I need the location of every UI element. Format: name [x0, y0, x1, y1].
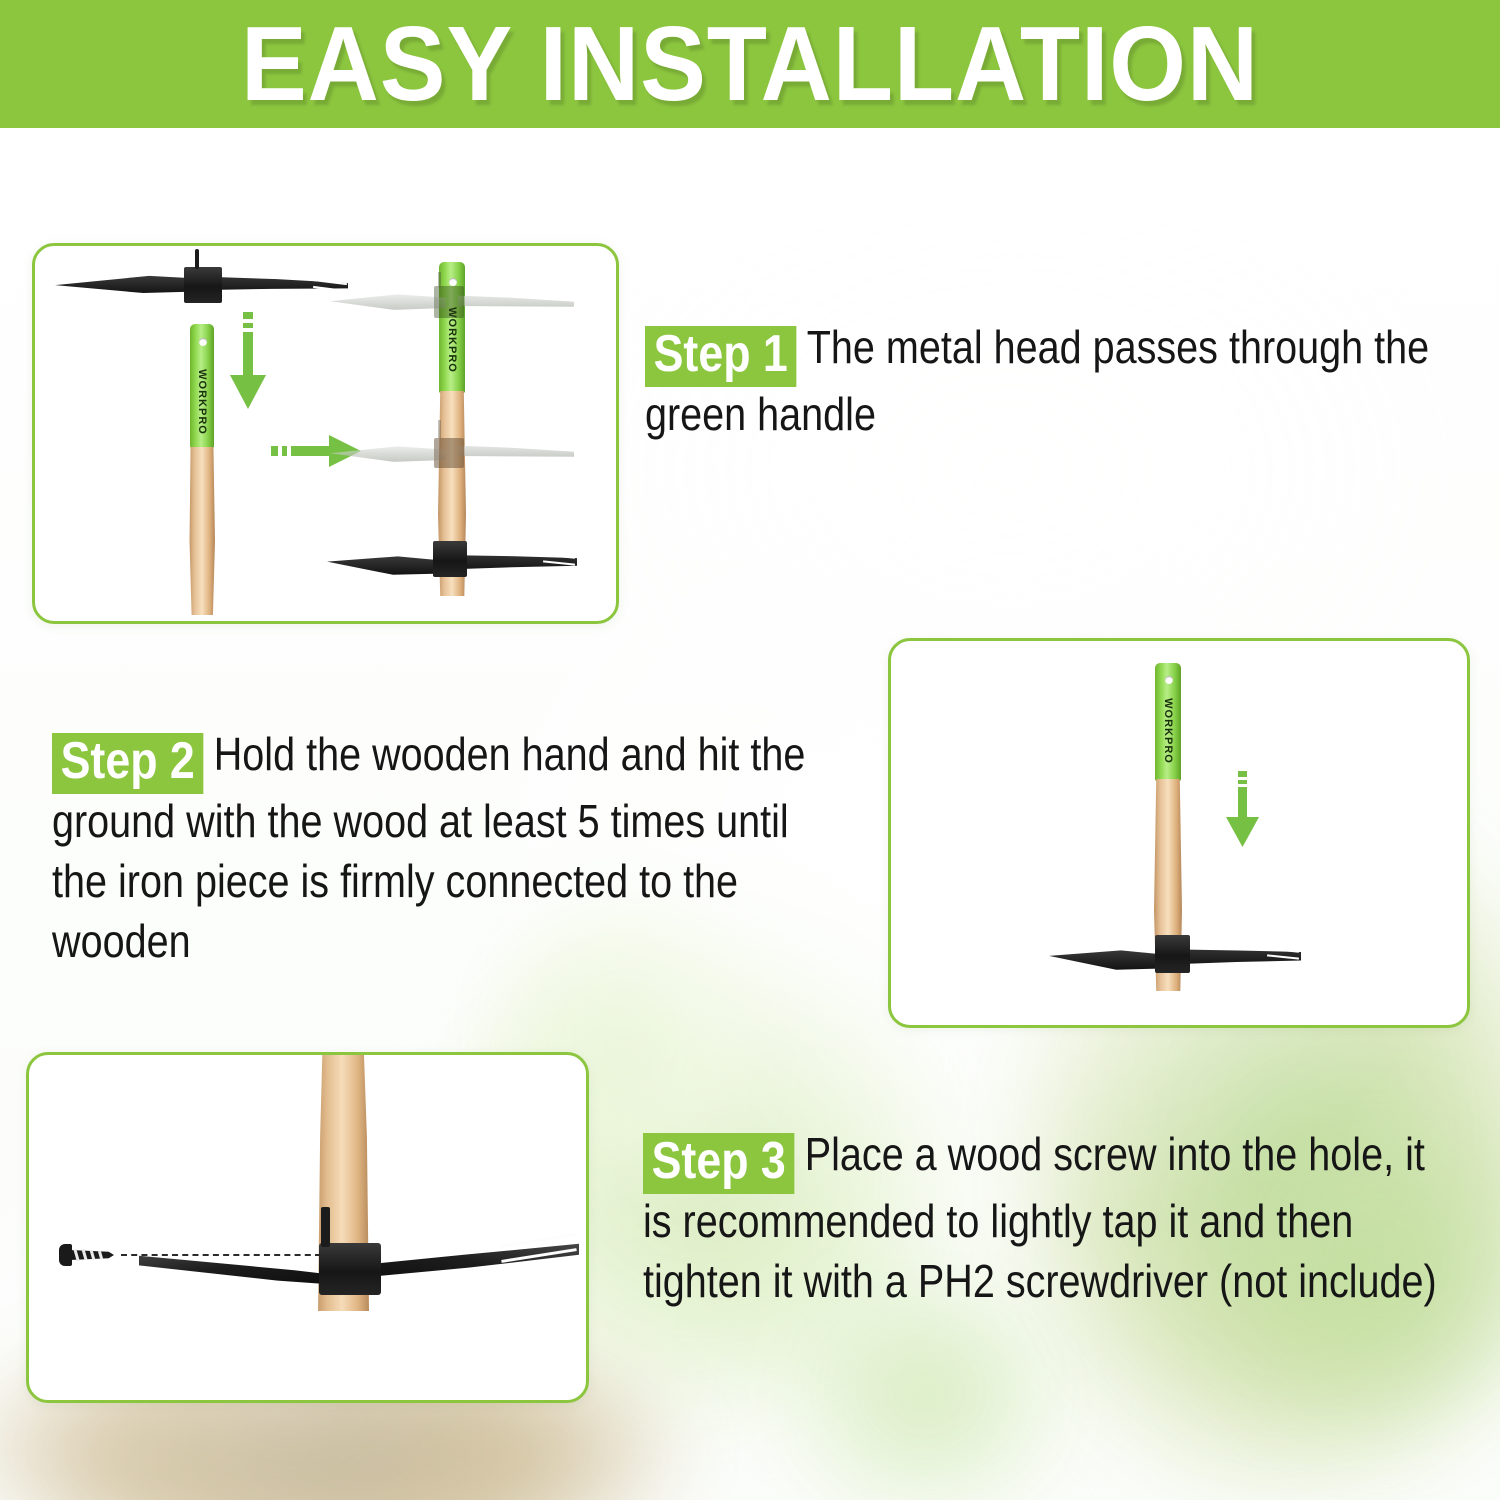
- step-3-illustration-content: [29, 1055, 586, 1400]
- step-3-paragraph: Step 3Place a wood screw into the hole, …: [643, 1125, 1441, 1312]
- step-2-text-block: Step 2Hold the wooden hand and hit the g…: [52, 725, 842, 971]
- header-banner: EASY INSTALLATION: [0, 0, 1500, 128]
- step-3-text-block: Step 3Place a wood screw into the hole, …: [643, 1125, 1443, 1312]
- head-collar: [184, 267, 222, 303]
- step-1-paragraph: Step 1The metal head passes through the …: [645, 318, 1443, 445]
- step-1-text-block: Step 1The metal head passes through the …: [645, 318, 1445, 445]
- head-collar-ghost: [434, 438, 464, 468]
- step-2-illustration-content: WORKPRO: [891, 641, 1467, 1025]
- head-collar: [319, 1243, 381, 1295]
- brand-label: WORKPRO: [196, 367, 208, 437]
- wood-screw-icon: [59, 1240, 125, 1270]
- head-collar: [1155, 935, 1190, 973]
- handle-detached: WORKPRO: [185, 324, 219, 614]
- fork-blade-icon: [200, 273, 348, 295]
- head-collar-ghost: [434, 286, 464, 318]
- assembled-tool: WORKPRO: [1059, 663, 1319, 1003]
- down-arrow-icon: [1221, 771, 1265, 849]
- head-seated-final: [327, 541, 577, 591]
- metal-head-detached: [55, 251, 345, 331]
- handle-hole: [1165, 676, 1173, 684]
- hoe-blade-icon: [139, 1247, 349, 1287]
- head-ghost-middle: [330, 436, 570, 478]
- step-1-illustration-content: WORKPRO WORKPRO: [35, 246, 616, 621]
- page-title: EASY INSTALLATION: [53, 0, 1448, 128]
- down-arrow-icon: [226, 312, 270, 412]
- tool-head: [1049, 935, 1299, 987]
- handle-wood: [189, 447, 215, 615]
- handle-hole: [449, 278, 457, 286]
- step-3-illustration-panel: [26, 1052, 589, 1403]
- hoe-blade-icon: [1049, 949, 1169, 972]
- head-collar-tab: [321, 1207, 330, 1247]
- hoe-blade-icon: [327, 555, 445, 577]
- step-1-tag: Step 1: [645, 326, 796, 387]
- assembled-tool-sequence: WORKPRO: [335, 256, 585, 616]
- step-3-tag: Step 3: [643, 1133, 794, 1194]
- head-collar: [433, 541, 467, 577]
- tool-head-closeup: [139, 1237, 579, 1327]
- alignment-dashed-line: [121, 1254, 321, 1256]
- head-tab: [195, 249, 199, 269]
- head-ghost-top: [330, 286, 570, 328]
- step-2-illustration-panel: WORKPRO: [888, 638, 1470, 1028]
- step-2-paragraph: Step 2Hold the wooden hand and hit the g…: [52, 725, 840, 971]
- step-1-illustration-panel: WORKPRO WORKPRO: [32, 243, 619, 624]
- brand-label: WORKPRO: [1162, 696, 1174, 766]
- handle-hole: [199, 338, 207, 346]
- step-2-tag: Step 2: [52, 733, 203, 794]
